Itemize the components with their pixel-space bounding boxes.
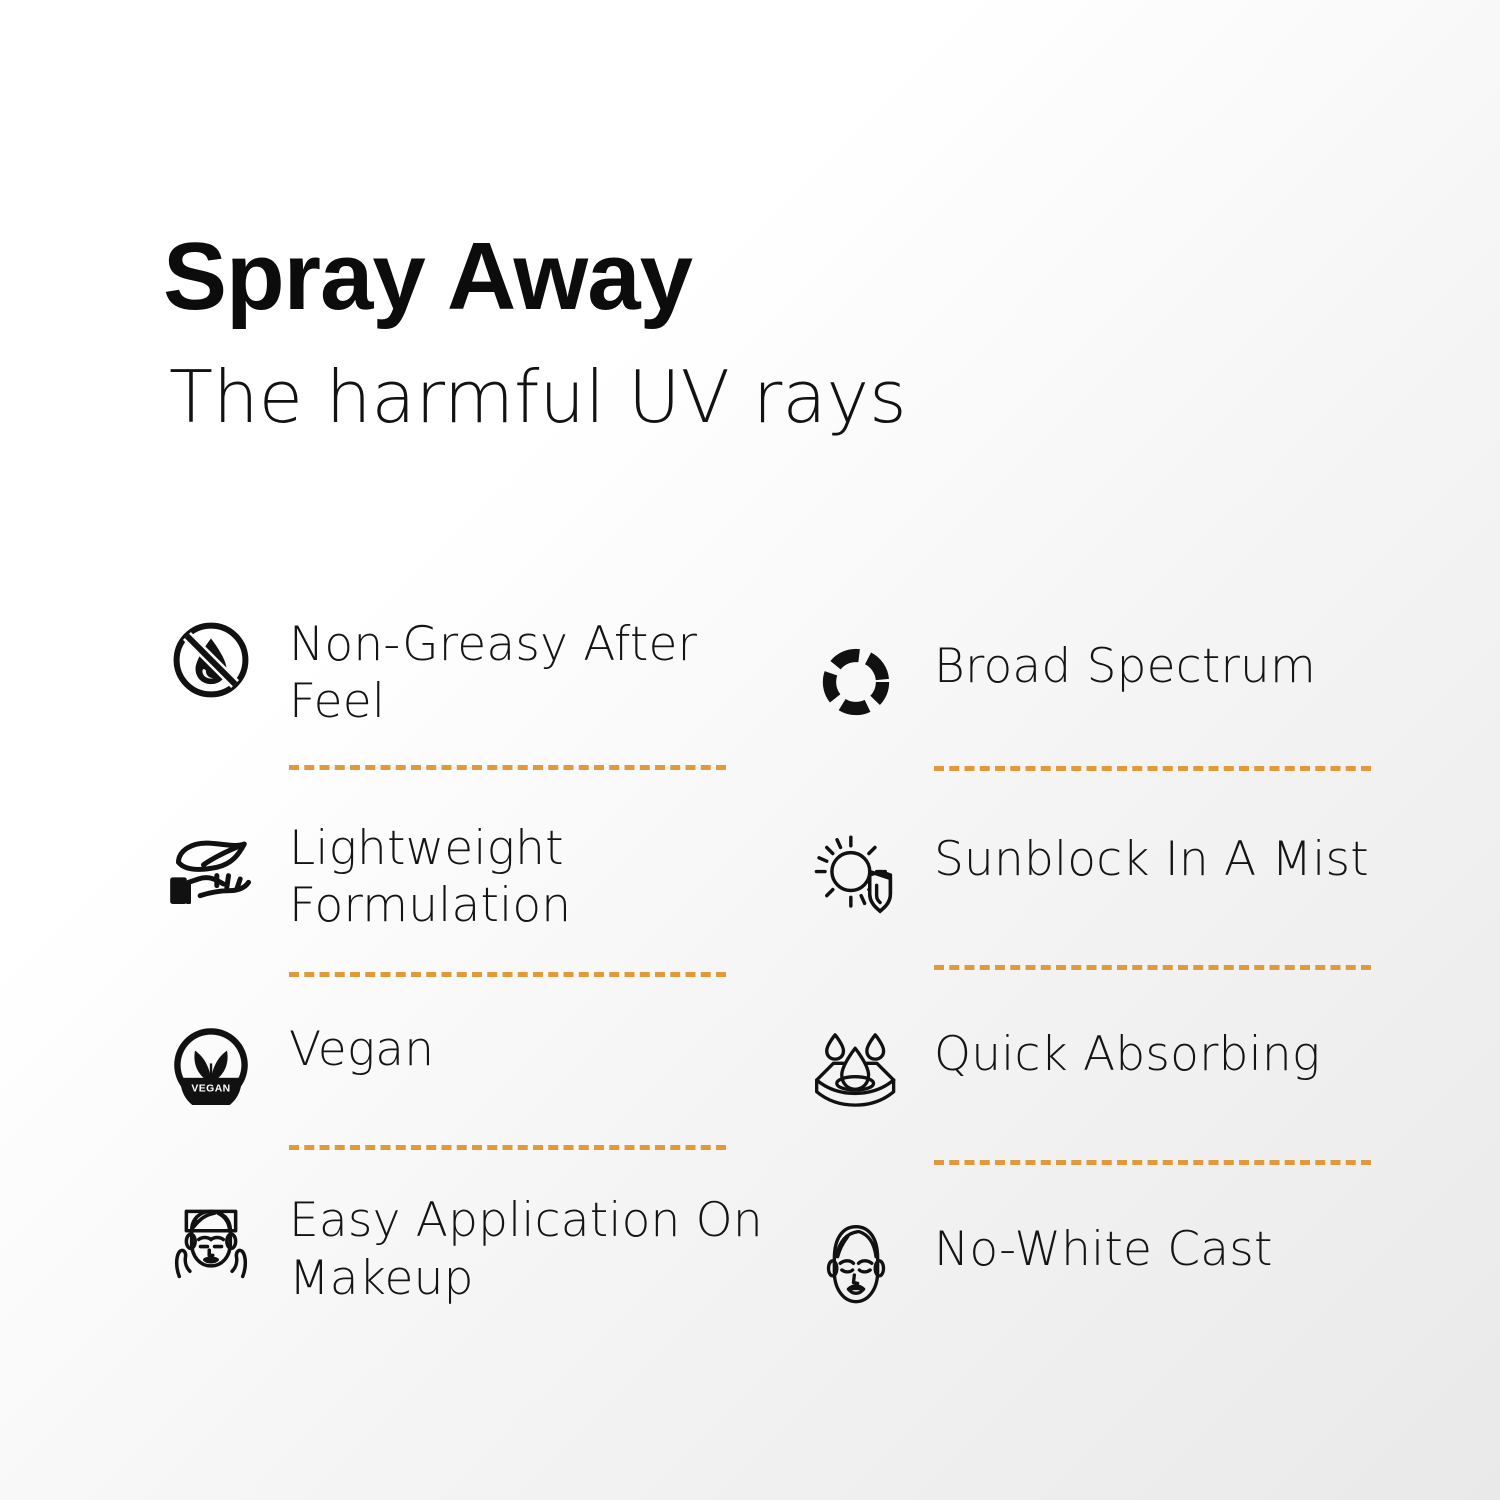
feature-label: Sunblock In A Mist (934, 827, 1369, 888)
feature-item-quick-absorbing: Quick Absorbing (808, 1022, 1408, 1118)
feature-label: Quick Absorbing (934, 1022, 1320, 1083)
droplets-absorbing-icon (808, 1022, 904, 1118)
segmented-circle-icon (808, 634, 904, 730)
feature-grid: Non-Greasy After Feel (0, 612, 1500, 1313)
feature-divider (934, 766, 1371, 771)
feature-divider (289, 765, 726, 770)
feature-divider (934, 1160, 1371, 1165)
feature-divider (289, 1145, 726, 1150)
feature-item-easy-application: Easy Application On Makeup (163, 1188, 783, 1307)
feature-item-no-white-cast: No-White Cast (808, 1217, 1408, 1313)
leaf-in-hand-icon (163, 816, 259, 912)
feature-item-broad-spectrum: Broad Spectrum (808, 634, 1408, 730)
headline-block: Spray Away The harmful UV rays (163, 228, 1263, 436)
face-hands-makeup-icon (163, 1188, 259, 1284)
feature-item-vegan: VEGAN Vegan (163, 1017, 783, 1113)
feature-divider (289, 972, 726, 977)
feature-item-non-greasy: Non-Greasy After Feel (163, 612, 783, 731)
page-subtitle: The harmful UV rays (169, 360, 1263, 436)
sun-shield-icon (808, 827, 904, 923)
feature-label: Easy Application On Makeup (289, 1188, 783, 1307)
feature-item-lightweight: Lightweight Formulation (163, 816, 783, 935)
vegan-badge-label: VEGAN (191, 1084, 230, 1095)
feature-column-right: Broad Spectrum (808, 612, 1408, 1313)
feature-label: Lightweight Formulation (289, 816, 783, 935)
feature-divider (934, 965, 1371, 970)
no-oil-drop-icon (163, 612, 259, 708)
page-title: Spray Away (163, 228, 1263, 326)
feature-item-sunblock-mist: Sunblock In A Mist (808, 827, 1408, 923)
infographic-canvas: Spray Away The harmful UV rays Non-Greas… (0, 0, 1500, 1500)
feature-column-left: Non-Greasy After Feel (163, 612, 783, 1313)
feature-label: No-White Cast (934, 1217, 1273, 1278)
vegan-badge-icon: VEGAN (163, 1017, 259, 1113)
face-closed-eyes-icon (808, 1217, 904, 1313)
feature-label: Broad Spectrum (934, 634, 1316, 695)
feature-label: Non-Greasy After Feel (289, 612, 783, 731)
feature-label: Vegan (289, 1017, 434, 1078)
